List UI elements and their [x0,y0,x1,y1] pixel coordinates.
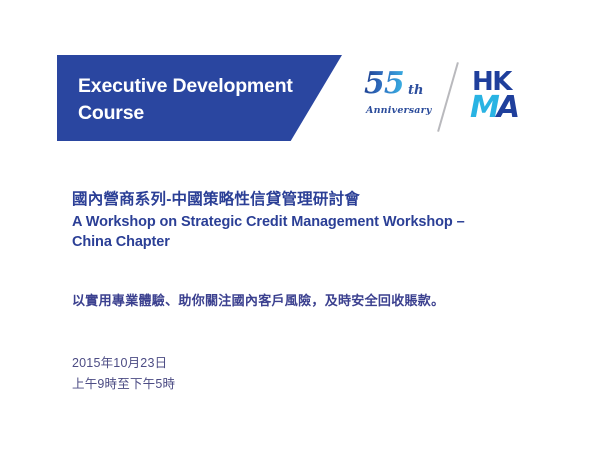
event-title-english-line1: A Workshop on Strategic Credit Managemen… [72,214,465,230]
anniversary-logo: 55 th Anniversary [364,67,442,129]
course-banner-label: Executive Development Course [78,73,328,127]
flyer-page: Executive Development Course 55 th Anniv… [0,0,600,465]
event-title-chinese: 國內營商系列-中國策略性信貸管理研討會 [72,190,542,210]
event-details: 國內營商系列-中國策略性信貸管理研討會 A Workshop on Strate… [72,190,542,395]
event-time: 上午9時至下午5時 [72,374,542,395]
hkma-logo-letter-a: A [497,90,517,125]
hkma-logo-line2: MA [470,93,517,123]
hkma-logo-letter-m: M [470,90,497,125]
hkma-logo: HK MA [470,69,550,127]
anniversary-ordinal: th [408,83,423,98]
header-band: Executive Development Course 55 th Anniv… [0,55,600,141]
event-date: 2015年10月23日 [72,353,542,374]
event-schedule: 2015年10月23日 上午9時至下午5時 [72,353,542,396]
anniversary-number: 55 [364,69,404,99]
event-tagline: 以實用專業體驗、助你關注國內客戶風險，及時安全回收賬款。 [72,292,542,310]
event-title-english-line2: China Chapter [72,234,170,250]
event-title-english: A Workshop on Strategic Credit Managemen… [72,212,542,252]
anniversary-word: Anniversary [366,105,432,116]
